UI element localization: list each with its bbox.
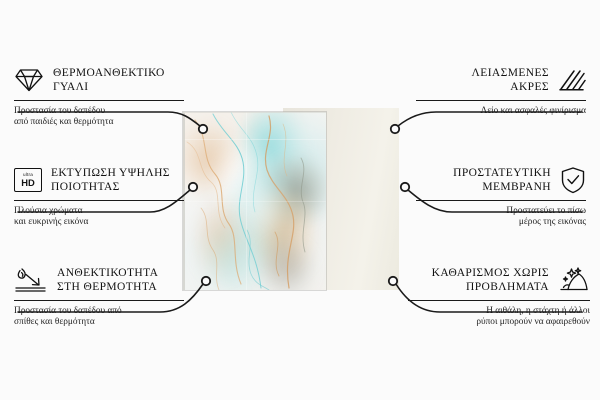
feature-description: Προστασία του δαπέδου από σπίθες και θερ… xyxy=(14,306,184,329)
feature-heat-resistant-glass: ΘΕΡΜΟΑΝΘΕΚΤΙΚΟ ΓΥΑΛΙ Προστασία του δαπέδ… xyxy=(14,66,184,129)
product-feature-infographic: ΘΕΡΜΟΑΝΘΕΚΤΙΚΟ ΓΥΑΛΙ Προστασία του δαπέδ… xyxy=(0,0,600,400)
feature-title: ΠΡΟΣΤΑΤΕΥΤΙΚΗ ΜΕΜΒΡΑΝΗ xyxy=(453,166,551,194)
divider xyxy=(14,100,184,101)
shield-check-icon xyxy=(560,166,586,194)
divider xyxy=(416,100,586,101)
divider xyxy=(416,200,586,201)
ultra-hd-icon: ultra HD xyxy=(14,168,42,192)
sparkle-clean-icon xyxy=(558,266,590,294)
product-image xyxy=(183,112,398,290)
connector-dot-membrane xyxy=(401,183,409,191)
feature-title: ΑΝΘΕΚΤΙΚΟΤΗΤΑ ΣΤΗ ΘΕΡΜΟΤΗΤΑ xyxy=(57,266,158,294)
feature-description: Λείο και ασφαλές φινίρισμα xyxy=(416,106,586,117)
ultra-hd-icon-hd-text: HD xyxy=(21,178,35,187)
glass-panel xyxy=(183,112,326,290)
feature-description: Η αιθάλη, η στάχτη ή άλλοι ρύποι μπορούν… xyxy=(408,306,590,329)
feature-description: Προστατεύει το πίσω μέρος της εικόνας xyxy=(416,206,586,229)
flame-deflect-icon xyxy=(14,266,48,294)
feature-title: ΚΑΘΑΡΙΣΜΟΣ ΧΩΡΙΣ ΠΡΟΒΛΗΜΑΤΑ xyxy=(432,266,549,294)
diagonal-lines-icon xyxy=(558,68,586,92)
feature-title: ΘΕΡΜΟΑΝΘΕΚΤΙΚΟ ΓΥΑΛΙ xyxy=(53,66,165,94)
feature-heat-durability: ΑΝΘΕΚΤΙΚΟΤΗΤΑ ΣΤΗ ΘΕΡΜΟΤΗΤΑ Προστασία το… xyxy=(14,266,184,329)
diamond-icon xyxy=(14,67,44,93)
divider xyxy=(408,300,590,301)
feature-polished-edges: ΛΕΙΑΣΜΕΝΕΣ ΑΚΡΕΣ Λείο και ασφαλές φινίρι… xyxy=(416,66,586,117)
divider xyxy=(14,200,184,201)
feature-protective-membrane: ΠΡΟΣΤΑΤΕΥΤΙΚΗ ΜΕΜΒΡΑΝΗ Προστατεύει το πί… xyxy=(416,166,586,229)
feature-easy-cleaning: ΚΑΘΑΡΙΣΜΟΣ ΧΩΡΙΣ ΠΡΟΒΛΗΜΑΤΑ Η αιθάλη, η … xyxy=(408,266,590,329)
divider xyxy=(14,300,184,301)
feature-description: Προστασία του δαπέδου από παιδιές και θε… xyxy=(14,106,184,129)
feature-description: Πλούσια χρώματα και ευκρινής εικόνα xyxy=(14,206,184,229)
ink-vein-overlay xyxy=(183,112,326,290)
feature-high-quality-print: ultra HD ΕΚΤΥΠΩΣΗ ΥΨΗΛΗΣ ΠΟΙΟΤΗΤΑΣ Πλούσ… xyxy=(14,166,184,229)
feature-title: ΕΚΤΥΠΩΣΗ ΥΨΗΛΗΣ ΠΟΙΟΤΗΤΑΣ xyxy=(51,166,170,194)
feature-title: ΛΕΙΑΣΜΕΝΕΣ ΑΚΡΕΣ xyxy=(472,66,549,94)
